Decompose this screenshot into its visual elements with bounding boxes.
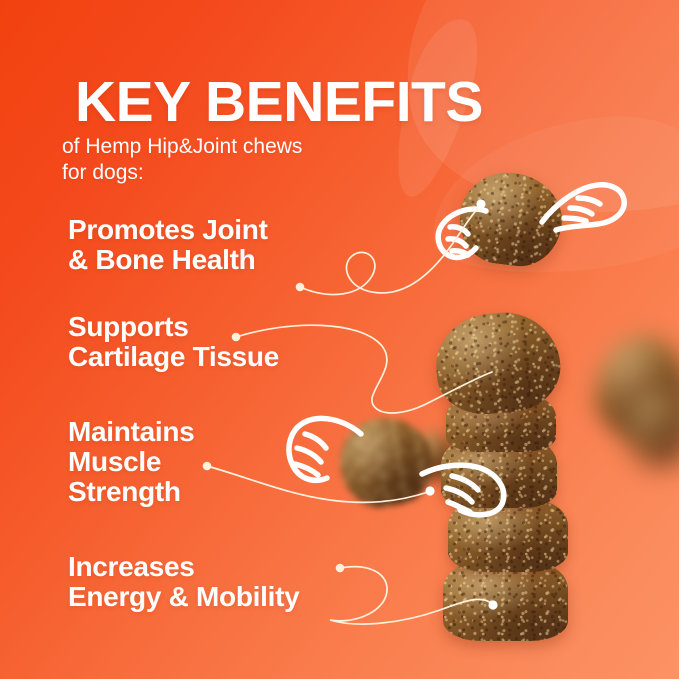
benefit-2-line-1: Supports bbox=[68, 312, 279, 342]
benefit-3-line-1: Maintains bbox=[68, 417, 194, 447]
background-blurred-treat-far-right bbox=[625, 388, 679, 468]
benefit-1-line-2: & Bone Health bbox=[68, 245, 268, 275]
stacked-treat-1-heart bbox=[436, 313, 560, 413]
connector-dot-origin-4 bbox=[336, 564, 345, 573]
connector-dot-origin-1 bbox=[296, 283, 305, 292]
benefit-4-line-2: Energy & Mobility bbox=[68, 582, 299, 612]
flying-treat-middle bbox=[340, 418, 432, 506]
benefit-2-line-2: Cartilage Tissue bbox=[68, 342, 279, 372]
flying-treat-top bbox=[460, 173, 562, 265]
benefit-1-line-1: Promotes Joint bbox=[68, 215, 268, 245]
promo-image-canvas: KEY BENEFITS of Hemp Hip&Joint chews for… bbox=[0, 0, 679, 679]
benefit-3-line-3: Strength bbox=[68, 477, 194, 507]
subtitle-line-1: of Hemp Hip&Joint chews bbox=[62, 134, 302, 160]
connector-dot-origin-3 bbox=[203, 462, 212, 471]
benefit-item-4: Increases Energy & Mobility bbox=[68, 552, 299, 612]
benefit-3-line-2: Muscle bbox=[68, 447, 194, 477]
benefit-item-1: Promotes Joint & Bone Health bbox=[68, 215, 268, 275]
page-title: KEY BENEFITS bbox=[75, 74, 483, 131]
benefit-item-3: Maintains Muscle Strength bbox=[68, 417, 194, 507]
subtitle: of Hemp Hip&Joint chews for dogs: bbox=[62, 134, 302, 185]
benefit-4-line-1: Increases bbox=[68, 552, 299, 582]
stacked-treat-4 bbox=[448, 500, 568, 572]
benefit-item-2: Supports Cartilage Tissue bbox=[68, 312, 279, 372]
stacked-treat-5 bbox=[443, 563, 568, 641]
connector-line-1 bbox=[300, 206, 480, 295]
subtitle-line-2: for dogs: bbox=[62, 160, 302, 186]
